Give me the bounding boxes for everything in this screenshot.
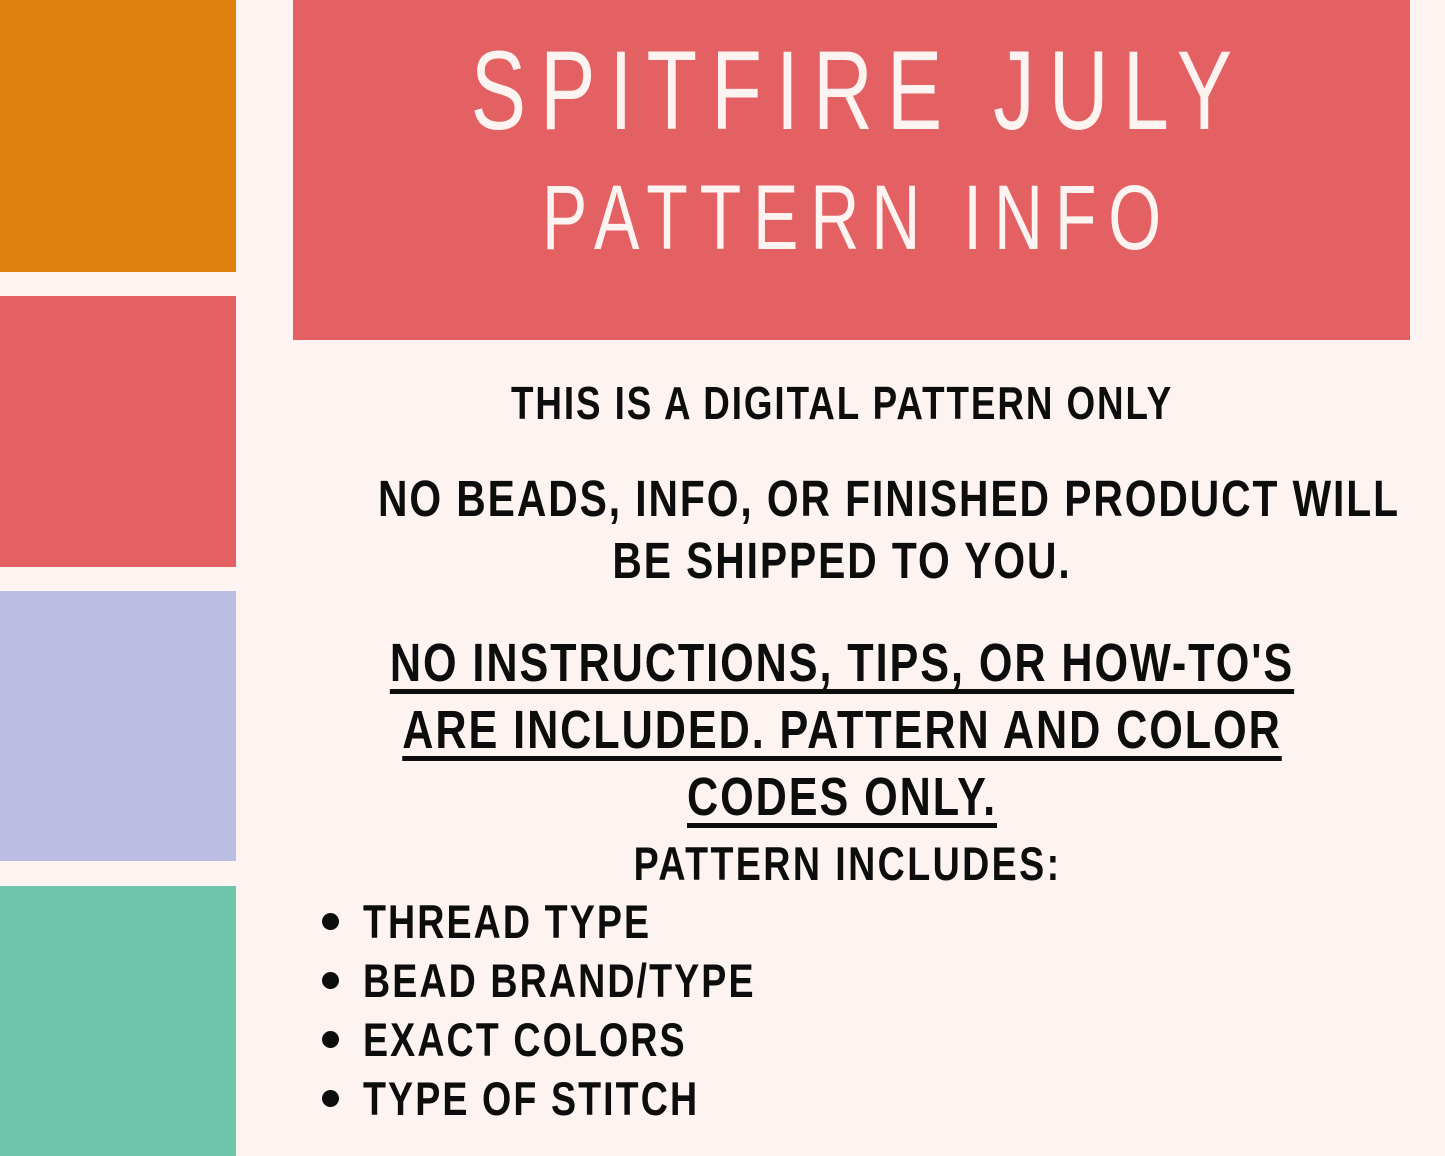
bullet-dot-icon (322, 913, 339, 930)
page-title: SPITFIRE JULY (457, 34, 1246, 148)
periwinkle-swatch (0, 591, 236, 861)
bullet-dot-icon (322, 1031, 339, 1048)
green-swatch (0, 886, 236, 1156)
list-item-label: EXACT COLORS (363, 1015, 687, 1065)
header-banner: SPITFIRE JULY PATTERN INFO (293, 0, 1410, 340)
no-instructions-notice: NO INSTRUCTIONS, TIPS, OR HOW-TO'S ARE I… (378, 630, 1306, 831)
orange-swatch (0, 0, 236, 272)
list-item-label: TYPE OF STITCH (363, 1074, 699, 1124)
digital-pattern-notice: THIS IS A DIGITAL PATTERN ONLY (378, 376, 1306, 430)
shipping-notice-line-1: NO BEADS, INFO, OR FINISHED PRODUCT WILL (378, 468, 1306, 530)
bullet-dot-icon (322, 1090, 339, 1107)
color-swatch-column (0, 0, 236, 1156)
red-swatch (0, 296, 236, 567)
bullet-dot-icon (322, 972, 339, 989)
list-item: TYPE OF STITCH (314, 1069, 1414, 1128)
shipping-notice: NO BEADS, INFO, OR FINISHED PRODUCT WILL… (378, 468, 1306, 592)
page-subtitle: PATTERN INFO (530, 172, 1173, 264)
list-item: THREAD TYPE (314, 892, 1414, 951)
content-area: THIS IS A DIGITAL PATTERN ONLY NO BEADS,… (262, 340, 1422, 1156)
list-item-label: THREAD TYPE (363, 897, 651, 947)
pattern-includes-list: THREAD TYPE BEAD BRAND/TYPE EXACT COLORS… (314, 892, 1414, 1128)
no-instructions-line-2: ARE INCLUDED. PATTERN AND COLOR (402, 697, 1282, 764)
pattern-includes-heading: PATTERN INCLUDES: (378, 836, 1306, 892)
list-item: BEAD BRAND/TYPE (314, 951, 1414, 1010)
shipping-notice-line-2: BE SHIPPED TO YOU. (378, 530, 1306, 592)
list-item: EXACT COLORS (314, 1010, 1414, 1069)
list-item-label: BEAD BRAND/TYPE (363, 956, 756, 1006)
no-instructions-line-3: CODES ONLY. (687, 764, 997, 831)
no-instructions-line-1: NO INSTRUCTIONS, TIPS, OR HOW-TO'S (390, 630, 1294, 697)
